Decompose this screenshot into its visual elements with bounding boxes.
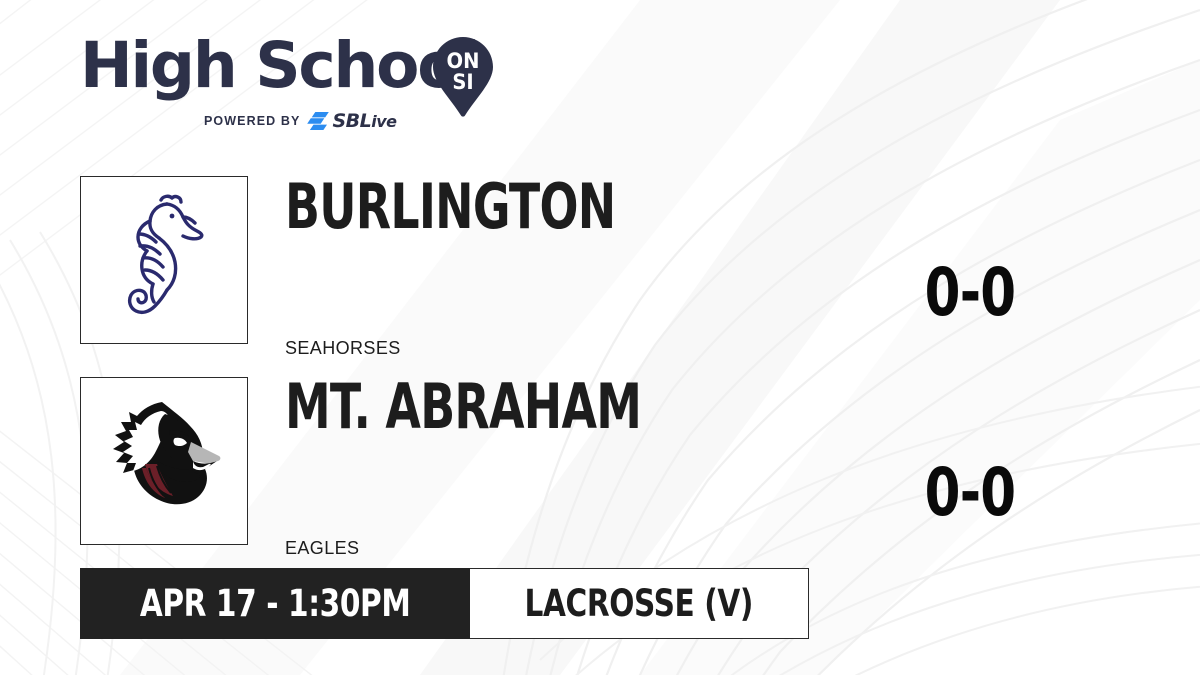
team-logo-box-mt-abraham: [80, 377, 248, 545]
matchup-graphic: High School ON SI POWERED BY SBLive: [0, 0, 1200, 675]
onsi-badge-line2: SI: [452, 69, 473, 94]
sblive-wordmark: SBLive: [332, 112, 396, 131]
game-datetime-panel: APR 17 - 1:30PM: [80, 568, 470, 639]
team-record-burlington: 0-0: [892, 260, 1048, 326]
game-datetime: APR 17 - 1:30PM: [140, 585, 411, 622]
game-sport: LACROSSE (V): [525, 585, 753, 622]
seahorse-logo-icon: [109, 190, 219, 330]
sblive-name: SBL: [332, 110, 371, 132]
sblive-bolt-icon: [307, 112, 329, 130]
team-mascot-seahorses: SEAHORSES: [285, 339, 401, 357]
brand-header: High School ON SI POWERED BY SBLive: [80, 34, 550, 134]
powered-by-label: POWERED BY: [204, 114, 300, 128]
eagle-head-logo-icon: [99, 398, 229, 524]
sblive-logo: SBLive: [307, 112, 396, 131]
team-logo-box-burlington: [80, 176, 248, 344]
team-mascot-eagles: EAGLES: [285, 539, 359, 557]
brand-title-row: High School ON SI: [80, 34, 550, 106]
team-name-burlington: BURLINGTON: [285, 176, 615, 238]
game-info-bar: APR 17 - 1:30PM LACROSSE (V): [80, 568, 809, 639]
team-name-mt-abraham: MT. ABRAHAM: [285, 376, 641, 438]
powered-by-row: POWERED BY SBLive: [204, 110, 396, 132]
sblive-name-suffix: ive: [371, 112, 396, 131]
page-title: High School: [80, 30, 478, 102]
onsi-badge: ON SI: [432, 36, 494, 118]
map-pin-icon: ON SI: [432, 36, 494, 118]
team-record-mt-abraham: 0-0: [892, 460, 1048, 526]
game-sport-panel: LACROSSE (V): [470, 568, 809, 639]
